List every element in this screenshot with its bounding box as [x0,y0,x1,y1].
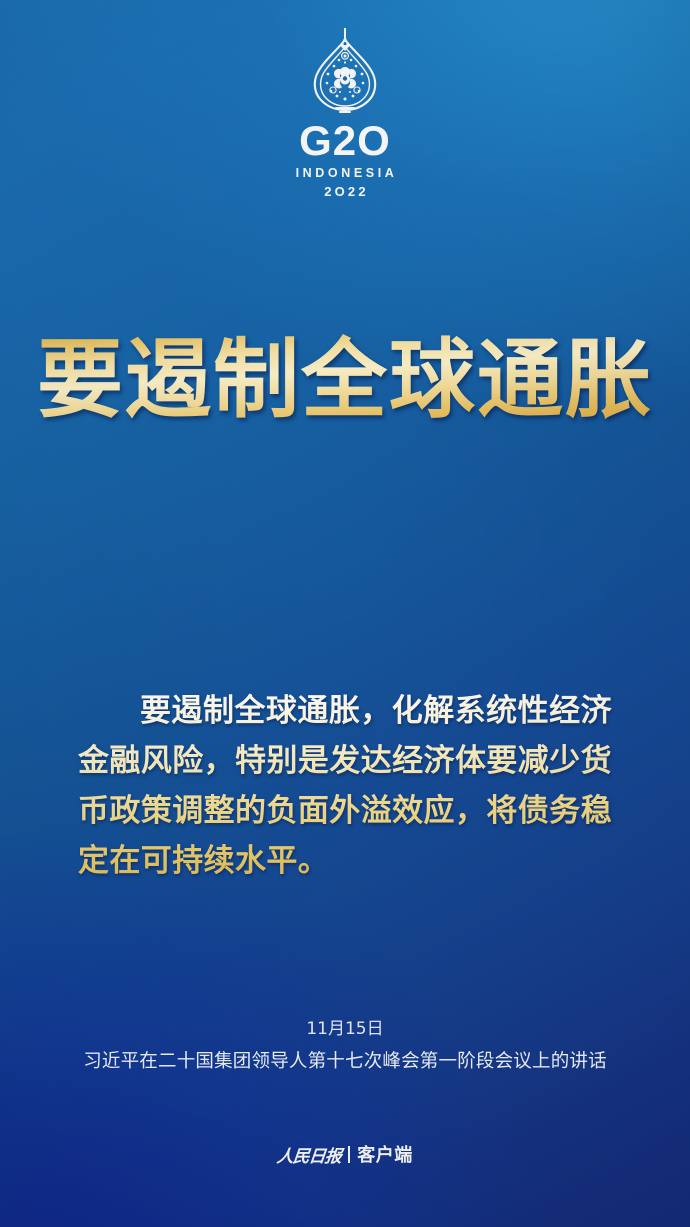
footer-source: 习近平在二十国集团领导人第十七次峰会第一阶段会议上的讲话 [0,1050,690,1074]
g20-logo: G2O INDONESIA 2O22 [0,28,690,198]
poster-canvas: G2O INDONESIA 2O22 要遏制全球通胀 要遏制全球通胀，化解系统性… [0,0,690,1227]
g20-wordmark: G2O [299,120,391,162]
quote-body: 要遏制全球通胀，化解系统性经济金融风险，特别是发达经济体要减少货币政策调整的负面… [78,686,612,886]
brand-logo: 人民日报 客户端 [0,1141,690,1167]
footer-date: 11月15日 [0,1018,690,1040]
page-title: 要遏制全球通胀 [0,334,690,427]
batik-ornament-icon [291,28,399,119]
g20-country-label: INDONESIA [293,167,398,180]
g20-year-label: 2O22 [321,185,369,198]
brand-app-label: 客户端 [357,1141,413,1167]
brand-divider [348,1146,350,1163]
peoples-daily-mark: 人民日报 [276,1142,343,1167]
